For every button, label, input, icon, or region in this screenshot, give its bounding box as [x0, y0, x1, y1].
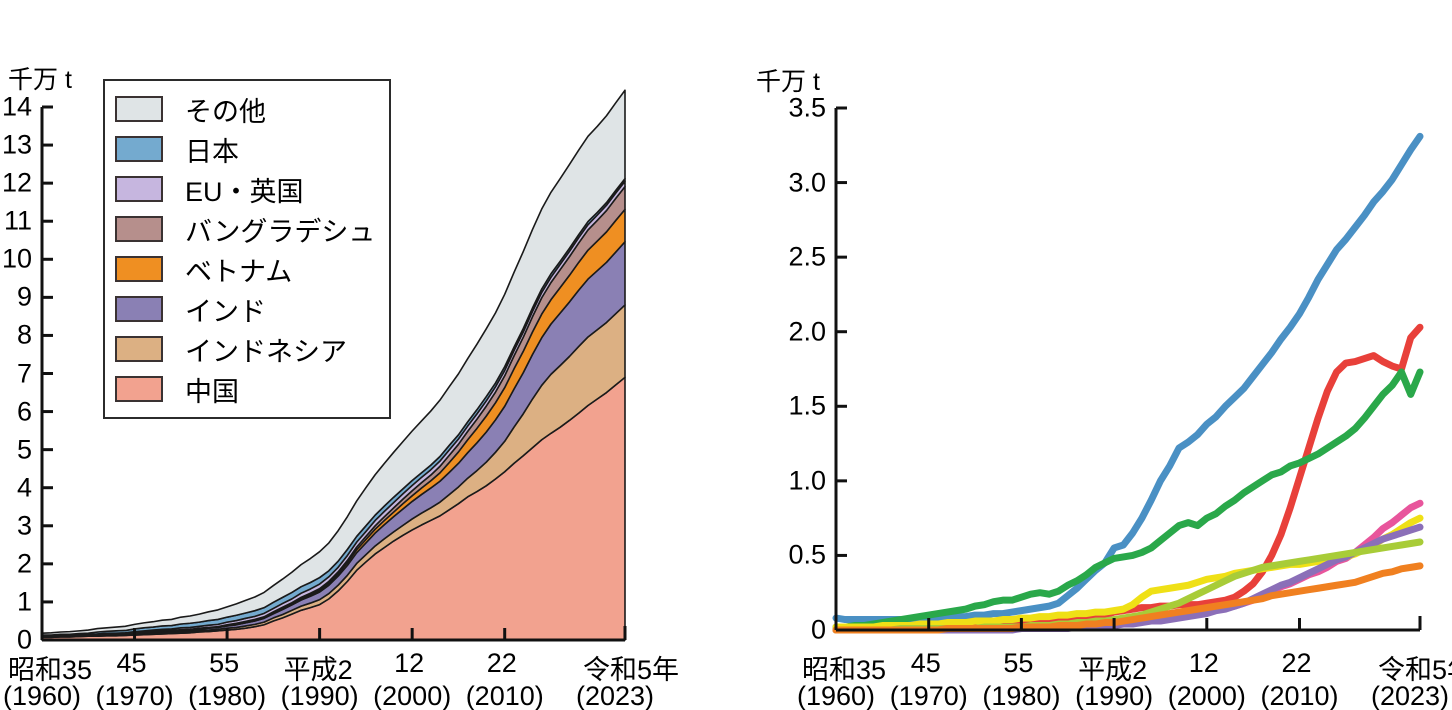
left-legend-item-0[interactable]: その他 [115, 89, 375, 129]
left-y-tick-4: 4 [17, 472, 32, 503]
left-legend-item-5[interactable]: インド [115, 289, 375, 329]
figure-root: 千万 t 14131211109876543210 その他日本EU・英国バングラ… [0, 0, 1452, 710]
left-legend-swatch-icon [115, 96, 163, 122]
right-x-year-label: (2010) [1260, 681, 1338, 710]
left-x-year-label: (1970) [96, 681, 174, 710]
left-x-era-label: 55 [209, 648, 239, 679]
left-legend-swatch-icon [115, 136, 163, 162]
left-x-year-label: (1960) [3, 681, 81, 710]
left-y-tick-11: 11 [4, 206, 32, 237]
left-legend-swatch-icon [115, 176, 163, 202]
left-legend-label: EU・英国 [185, 170, 304, 209]
left-x-era-label: 22 [487, 648, 517, 679]
left-legend-label: インド [185, 290, 266, 329]
right-x-year-label: (2023) [1371, 681, 1449, 710]
right-chart-panel: 千万 t 3.53.02.52.01.51.00.50 コイ・フナ類紅藻類（キリ… [726, 0, 1452, 710]
left-legend-swatch-icon [115, 376, 163, 402]
right-y-tick-1.5: 1.5 [788, 391, 826, 422]
left-x-era-label: 12 [394, 648, 424, 679]
left-y-tick-14: 14 [2, 92, 32, 123]
right-y-tick-3.5: 3.5 [788, 93, 826, 124]
left-legend-item-3[interactable]: バングラデシュ [115, 209, 375, 249]
left-chart-panel: 千万 t 14131211109876543210 その他日本EU・英国バングラ… [0, 0, 726, 710]
right-x-era-label: 22 [1281, 648, 1311, 679]
right-y-tick-2.5: 2.5 [788, 242, 826, 273]
left-y-tick-9: 9 [17, 282, 32, 313]
right-chart-canvas [726, 0, 1452, 710]
left-x-year-label: (2000) [373, 681, 451, 710]
right-y-tick-0.5: 0.5 [788, 540, 826, 571]
left-y-tick-3: 3 [17, 510, 32, 541]
left-legend-swatch-icon [115, 336, 163, 362]
left-y-tick-2: 2 [17, 548, 32, 579]
left-y-tick-7: 7 [17, 358, 32, 389]
left-y-tick-10: 10 [2, 244, 32, 275]
left-legend-item-1[interactable]: 日本 [115, 129, 375, 169]
left-x-year-label: (1990) [281, 681, 359, 710]
left-y-tick-8: 8 [17, 320, 32, 351]
right-y-tick-2.0: 2.0 [788, 316, 826, 347]
left-legend-swatch-icon [115, 256, 163, 282]
left-legend-label: 日本 [185, 130, 239, 169]
left-legend: その他日本EU・英国バングラデシュベトナムインドインドネシア中国 [103, 79, 391, 419]
left-legend-item-6[interactable]: インドネシア [115, 329, 375, 369]
left-legend-label: その他 [185, 90, 266, 129]
left-x-year-label: (2023) [576, 681, 654, 710]
left-legend-item-4[interactable]: ベトナム [115, 249, 375, 289]
left-legend-swatch-icon [115, 296, 163, 322]
left-y-tick-5: 5 [17, 434, 32, 465]
right-x-era-label: 12 [1189, 648, 1219, 679]
right-x-year-label: (1980) [982, 681, 1060, 710]
right-y-tick-1.0: 1.0 [788, 465, 826, 496]
right-y-tick-0: 0 [811, 615, 826, 646]
left-legend-swatch-icon [115, 216, 163, 242]
left-y-tick-1: 1 [17, 586, 32, 617]
right-x-era-label: 45 [911, 648, 941, 679]
left-x-era-label: 45 [117, 648, 147, 679]
right-x-year-label: (1970) [890, 681, 968, 710]
left-legend-label: 中国 [185, 370, 239, 409]
left-x-year-label: (1980) [188, 681, 266, 710]
left-legend-item-2[interactable]: EU・英国 [115, 169, 375, 209]
right-x-year-label: (1990) [1075, 681, 1153, 710]
left-legend-label: ベトナム [185, 250, 292, 289]
left-legend-item-7[interactable]: 中国 [115, 369, 375, 409]
left-y-tick-6: 6 [17, 396, 32, 427]
left-y-tick-13: 13 [2, 130, 32, 161]
left-legend-label: バングラデシュ [185, 210, 375, 249]
right-x-year-label: (2000) [1168, 681, 1246, 710]
right-x-era-label: 55 [1003, 648, 1033, 679]
left-y-tick-12: 12 [2, 168, 32, 199]
left-x-year-label: (2010) [466, 681, 544, 710]
right-x-year-label: (1960) [797, 681, 875, 710]
left-legend-label: インドネシア [185, 330, 347, 369]
right-y-tick-3.0: 3.0 [788, 167, 826, 198]
